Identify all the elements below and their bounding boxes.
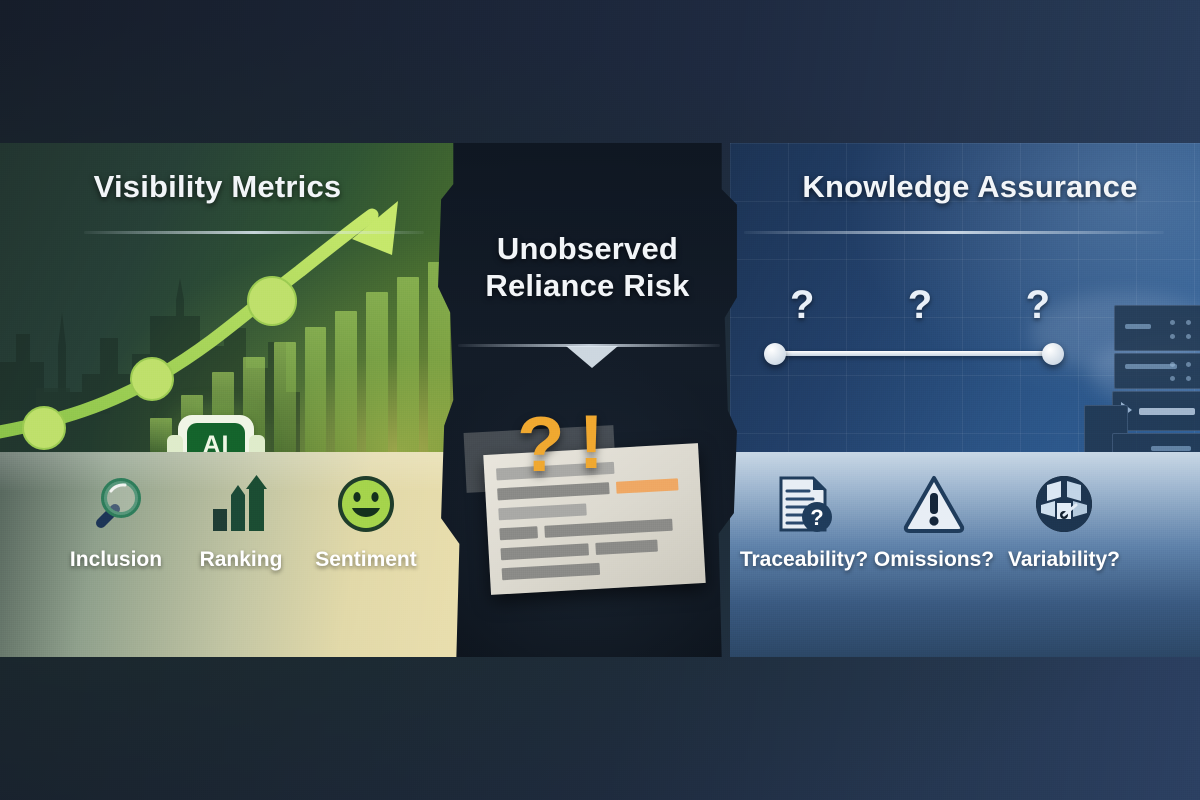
assurance-item-omissions[interactable]: Omissions? (874, 473, 994, 572)
center-title-line-2: Reliance Risk (435, 268, 740, 305)
chevron-down-icon (566, 346, 618, 368)
svg-text:?: ? (810, 505, 823, 530)
center-title-line-1: Unobserved (435, 231, 740, 268)
metric-label-inclusion: Inclusion (70, 548, 162, 572)
bar-chart-arrow-up-icon (210, 473, 272, 535)
assurance-label-traceability: Traceability? (740, 548, 868, 572)
infographic-panel: AI ? ? ? (0, 143, 1200, 657)
metric-item-sentiment[interactable]: Sentiment (306, 473, 426, 572)
question-mark-icon: ? (517, 411, 565, 477)
risk-document-graphic: ? ! (447, 411, 727, 601)
metric-label-sentiment: Sentiment (315, 548, 417, 572)
infographic-canvas: AI ? ? ? (0, 0, 1200, 800)
left-metric-icons: Inclusion Ranking (56, 473, 426, 572)
risk-punctuation-marks: ? ! (517, 411, 647, 477)
trend-data-points (23, 277, 296, 449)
assurance-label-omissions: Omissions? (874, 548, 994, 572)
right-title-divider (744, 231, 1164, 234)
left-panel-title: Visibility Metrics (0, 169, 435, 205)
assurance-item-variability[interactable]: Variability? (1004, 473, 1124, 572)
uncertainty-question-marks: ? ? ? (790, 283, 1050, 328)
left-panel-visibility-metrics: AI (0, 143, 470, 657)
center-panel-title: Unobserved Reliance Risk (435, 231, 740, 305)
right-panel-knowledge-assurance: ? ? ? (730, 143, 1200, 657)
document-highlight-bar (616, 478, 679, 493)
center-panel-unobserved-reliance-risk: ? ! (435, 143, 740, 657)
right-assurance-icons: ? Traceability? Omissions? (744, 473, 1124, 572)
connector-endpoint-left[interactable] (764, 343, 786, 365)
exclamation-mark-icon: ! (579, 411, 604, 476)
right-panel-title: Knowledge Assurance (740, 169, 1200, 205)
left-title-divider (84, 231, 424, 234)
question-mark-icon: ? (908, 283, 932, 328)
warning-triangle-icon (903, 473, 965, 535)
document-question-icon: ? (773, 473, 835, 535)
connector-track (774, 351, 1054, 356)
assurance-label-variability: Variability? (1008, 548, 1120, 572)
magnifying-glass-icon (85, 473, 147, 535)
smiley-face-icon (335, 473, 397, 535)
gauge-dial-icon (1033, 473, 1095, 535)
assurance-item-traceability[interactable]: ? Traceability? (744, 473, 864, 572)
connector-endpoint-right[interactable] (1042, 343, 1064, 365)
question-mark-icon: ? (1026, 283, 1050, 328)
metric-item-inclusion[interactable]: Inclusion (56, 473, 176, 572)
metric-item-ranking[interactable]: Ranking (181, 473, 301, 572)
knowledge-connector-slider[interactable] (764, 343, 1064, 363)
question-mark-icon: ? (790, 283, 814, 328)
metric-label-ranking: Ranking (200, 548, 283, 572)
